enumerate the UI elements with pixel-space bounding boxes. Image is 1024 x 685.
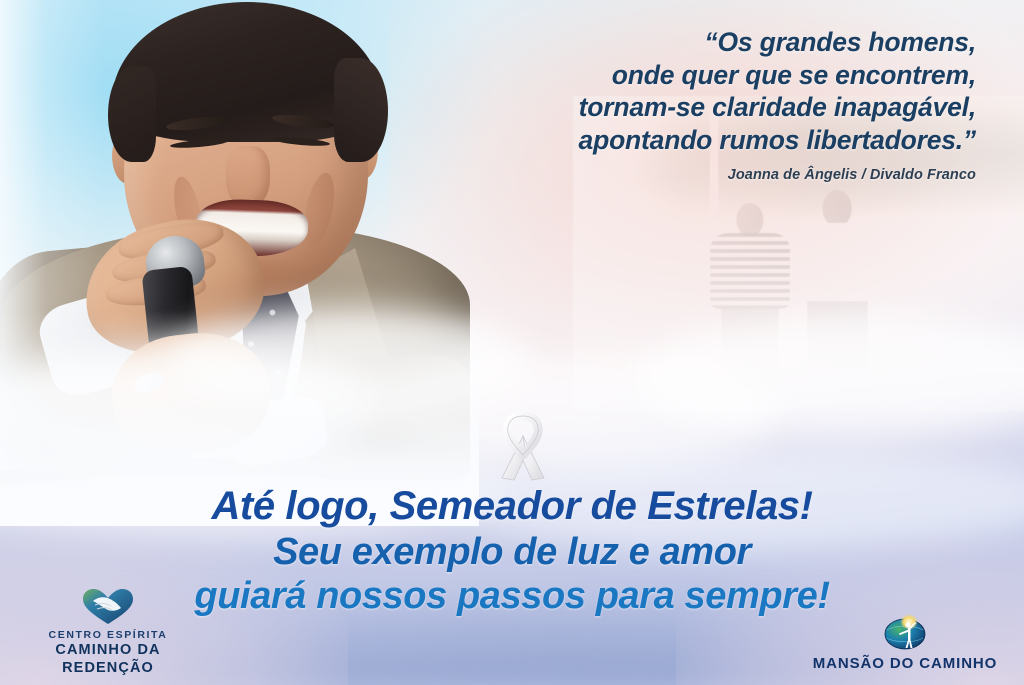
globe-figure-icon: [879, 612, 931, 652]
portrait-of-man: [0, 0, 470, 470]
headline-line-1: Até logo, Semeador de Estrelas!: [0, 486, 1024, 526]
quote-line-4: apontando rumos libertadores.”: [416, 124, 976, 157]
heart-hands-icon: [80, 588, 136, 626]
logo-left-line-1: CENTRO ESPÍRITA: [8, 629, 208, 642]
logo-mansao-do-caminho: MANSÃO DO CAMINHO: [800, 612, 1010, 673]
logo-centro-espirita: CENTRO ESPÍRITA CAMINHO DA REDENÇÃO: [8, 588, 208, 677]
quote-line-1: “Os grandes homens,: [416, 26, 976, 59]
logo-left-line-2: CAMINHO DA REDENÇÃO: [8, 642, 208, 677]
hair-side-left: [108, 66, 156, 162]
white-ribbon-svg: [492, 410, 554, 484]
logo-right-line-1: MANSÃO DO CAMINHO: [800, 655, 1010, 673]
memorial-poster: “Os grandes homens, onde quer que se enc…: [0, 0, 1024, 685]
quote-line-2: onde quer que se encontrem,: [416, 59, 976, 92]
quote-block: “Os grandes homens, onde quer que se enc…: [416, 26, 976, 183]
hair-side-right: [334, 58, 388, 162]
quote-attribution: Joanna de Ângelis / Divaldo Franco: [416, 167, 976, 183]
white-ribbon-icon: [492, 410, 554, 484]
headline-line-2: Seu exemplo de luz e amor: [0, 533, 1024, 571]
nose: [226, 146, 270, 208]
quote-line-3: tornam-se claridade inapagável,: [416, 91, 976, 124]
